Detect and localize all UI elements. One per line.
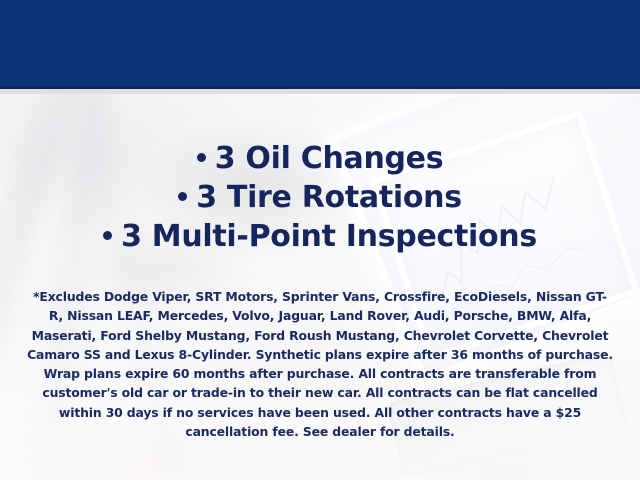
benefit-label: 3 Multi-Point Inspections xyxy=(121,219,537,254)
disclaimer-text: *Excludes Dodge Viper, SRT Motors, Sprin… xyxy=(26,287,614,441)
bullet-dot-icon xyxy=(178,192,187,201)
header-banner xyxy=(0,0,640,86)
header-underline-strip xyxy=(0,89,640,94)
benefit-item: 3 Tire Rotations xyxy=(0,178,640,217)
benefit-label: 3 Oil Changes xyxy=(215,141,444,176)
extracare-package-poster: ExtraCare Package* 3 Oil Changes 3 Tire … xyxy=(0,0,640,480)
benefits-list: 3 Oil Changes 3 Tire Rotations 3 Multi-P… xyxy=(0,139,640,256)
benefit-item: 3 Multi-Point Inspections xyxy=(0,217,640,256)
benefit-item: 3 Oil Changes xyxy=(0,139,640,178)
benefit-label: 3 Tire Rotations xyxy=(196,180,462,215)
bullet-dot-icon xyxy=(103,231,112,240)
bullet-dot-icon xyxy=(197,153,206,162)
